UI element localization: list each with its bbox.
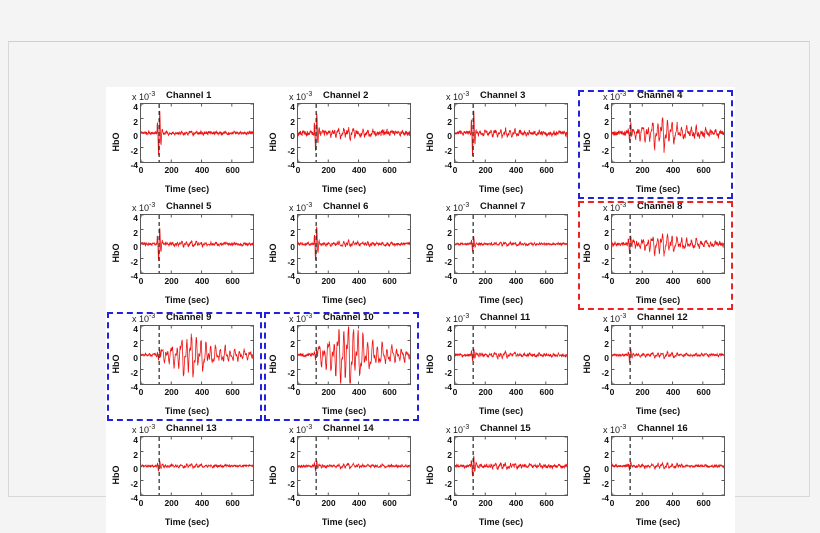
x-tick-labels-7: 0200400600 — [450, 276, 574, 288]
y-tick-11-0: 4 — [430, 325, 452, 333]
y-tick-16-1: 2 — [587, 451, 609, 459]
x-axis-label-9: Time (sec) — [128, 406, 246, 416]
y-tick-labels-1: 420-2-4 — [114, 99, 138, 167]
channel-panel-9[interactable]: x 10-3Channel 9HbOTime (sec)420-2-402004… — [106, 311, 263, 422]
y-tick-10-1: 2 — [273, 340, 295, 348]
x-tick-labels-9: 0200400600 — [136, 387, 260, 399]
y-tick-1-1: 2 — [116, 118, 138, 126]
y-tick-labels-2: 420-2-4 — [271, 99, 295, 167]
channel-panel-4[interactable]: x 10-3Channel 4HbOTime (sec)420-2-402004… — [577, 89, 734, 200]
x-tick-8-2: 400 — [660, 276, 686, 286]
y-axis-multiplier-exponent: -3 — [620, 202, 626, 209]
plot-axes-4[interactable] — [611, 103, 725, 163]
y-tick-11-3: -2 — [430, 369, 452, 377]
x-axis-label-10: Time (sec) — [285, 406, 403, 416]
channel-panel-8[interactable]: x 10-3Channel 8HbOTime (sec)420-2-402004… — [577, 200, 734, 311]
x-tick-2-2: 400 — [346, 165, 372, 175]
x-tick-6-2: 400 — [346, 276, 372, 286]
y-tick-labels-5: 420-2-4 — [114, 210, 138, 278]
x-tick-labels-13: 0200400600 — [136, 498, 260, 510]
x-tick-10-2: 400 — [346, 387, 372, 397]
x-tick-6-0: 0 — [285, 276, 311, 286]
channel-panel-3[interactable]: x 10-3Channel 3HbOTime (sec)420-2-402004… — [420, 89, 577, 200]
y-axis-multiplier-exponent: -3 — [149, 202, 155, 209]
x-tick-2-1: 200 — [316, 165, 342, 175]
y-tick-13-1: 2 — [116, 451, 138, 459]
y-tick-2-3: -2 — [273, 147, 295, 155]
plot-axes-5[interactable] — [140, 214, 254, 274]
x-tick-13-2: 400 — [189, 498, 215, 508]
x-tick-labels-1: 0200400600 — [136, 165, 260, 177]
y-tick-9-0: 4 — [116, 325, 138, 333]
y-axis-multiplier-exponent: -3 — [306, 424, 312, 431]
y-tick-8-3: -2 — [587, 258, 609, 266]
panel-title-7: Channel 7 — [480, 201, 525, 212]
y-tick-7-3: -2 — [430, 258, 452, 266]
x-tick-1-2: 400 — [189, 165, 215, 175]
x-axis-label-3: Time (sec) — [442, 184, 560, 194]
y-tick-6-1: 2 — [273, 229, 295, 237]
panel-title-9: Channel 9 — [166, 312, 211, 323]
panel-title-3: Channel 3 — [480, 90, 525, 101]
x-tick-11-0: 0 — [442, 387, 468, 397]
y-tick-13-2: 0 — [116, 465, 138, 473]
x-tick-9-2: 400 — [189, 387, 215, 397]
x-axis-label-13: Time (sec) — [128, 517, 246, 527]
x-tick-12-1: 200 — [630, 387, 656, 397]
y-tick-7-2: 0 — [430, 243, 452, 251]
x-tick-10-0: 0 — [285, 387, 311, 397]
panel-title-12: Channel 12 — [637, 312, 688, 323]
panel-title-4: Channel 4 — [637, 90, 682, 101]
y-axis-multiplier-exponent: -3 — [463, 91, 469, 98]
panel-title-15: Channel 15 — [480, 423, 531, 434]
y-tick-15-1: 2 — [430, 451, 452, 459]
x-tick-5-0: 0 — [128, 276, 154, 286]
x-tick-12-2: 400 — [660, 387, 686, 397]
plot-axes-2[interactable] — [297, 103, 411, 163]
x-tick-3-1: 200 — [473, 165, 499, 175]
x-tick-13-1: 200 — [159, 498, 185, 508]
x-tick-15-2: 400 — [503, 498, 529, 508]
y-tick-2-1: 2 — [273, 118, 295, 126]
x-tick-14-0: 0 — [285, 498, 311, 508]
x-tick-labels-3: 0200400600 — [450, 165, 574, 177]
x-tick-10-1: 200 — [316, 387, 342, 397]
plot-axes-11[interactable] — [454, 325, 568, 385]
y-tick-labels-6: 420-2-4 — [271, 210, 295, 278]
x-tick-8-0: 0 — [599, 276, 625, 286]
x-axis-label-1: Time (sec) — [128, 184, 246, 194]
x-tick-5-1: 200 — [159, 276, 185, 286]
y-tick-12-3: -2 — [587, 369, 609, 377]
x-axis-label-8: Time (sec) — [599, 295, 717, 305]
y-tick-8-2: 0 — [587, 243, 609, 251]
x-tick-3-2: 400 — [503, 165, 529, 175]
y-tick-labels-3: 420-2-4 — [428, 99, 452, 167]
y-tick-3-2: 0 — [430, 132, 452, 140]
y-axis-multiplier-exponent: -3 — [463, 313, 469, 320]
y-tick-12-1: 2 — [587, 340, 609, 348]
panel-title-1: Channel 1 — [166, 90, 211, 101]
y-tick-9-3: -2 — [116, 369, 138, 377]
y-tick-14-3: -2 — [273, 480, 295, 488]
x-tick-11-1: 200 — [473, 387, 499, 397]
x-tick-8-1: 200 — [630, 276, 656, 286]
x-axis-label-15: Time (sec) — [442, 517, 560, 527]
y-tick-6-3: -2 — [273, 258, 295, 266]
plot-axes-16[interactable] — [611, 436, 725, 496]
channel-panel-16[interactable]: x 10-3Channel 16HbOTime (sec)420-2-40200… — [577, 422, 734, 533]
y-tick-labels-15: 420-2-4 — [428, 432, 452, 500]
channel-panel-15[interactable]: x 10-3Channel 15HbOTime (sec)420-2-40200… — [420, 422, 577, 533]
y-tick-10-2: 0 — [273, 354, 295, 362]
channel-panel-5[interactable]: x 10-3Channel 5HbOTime (sec)420-2-402004… — [106, 200, 263, 311]
x-axis-label-2: Time (sec) — [285, 184, 403, 194]
y-tick-1-0: 4 — [116, 103, 138, 111]
plot-axes-6[interactable] — [297, 214, 411, 274]
figure-outer-frame: x 10-3Channel 1HbOTime (sec)420-2-402004… — [8, 41, 810, 497]
y-tick-5-2: 0 — [116, 243, 138, 251]
plot-axes-12[interactable] — [611, 325, 725, 385]
y-axis-multiplier-exponent: -3 — [620, 91, 626, 98]
y-tick-6-0: 4 — [273, 214, 295, 222]
x-tick-labels-12: 0200400600 — [607, 387, 731, 399]
y-axis-multiplier-exponent: -3 — [306, 313, 312, 320]
y-axis-multiplier-exponent: -3 — [306, 202, 312, 209]
y-tick-14-0: 4 — [273, 436, 295, 444]
x-tick-1-1: 200 — [159, 165, 185, 175]
x-axis-label-16: Time (sec) — [599, 517, 717, 527]
panel-title-6: Channel 6 — [323, 201, 368, 212]
y-axis-multiplier-exponent: -3 — [306, 91, 312, 98]
x-tick-6-1: 200 — [316, 276, 342, 286]
x-tick-4-2: 400 — [660, 165, 686, 175]
panel-title-5: Channel 5 — [166, 201, 211, 212]
y-tick-13-3: -2 — [116, 480, 138, 488]
figure-canvas: x 10-3Channel 1HbOTime (sec)420-2-402004… — [106, 87, 735, 533]
x-tick-9-3: 600 — [220, 387, 246, 397]
y-tick-16-2: 0 — [587, 465, 609, 473]
x-tick-13-3: 600 — [220, 498, 246, 508]
plot-axes-7[interactable] — [454, 214, 568, 274]
y-tick-3-3: -2 — [430, 147, 452, 155]
y-tick-2-2: 0 — [273, 132, 295, 140]
channel-panel-14[interactable]: x 10-3Channel 14HbOTime (sec)420-2-40200… — [263, 422, 420, 533]
y-tick-5-3: -2 — [116, 258, 138, 266]
x-tick-16-3: 600 — [691, 498, 717, 508]
y-axis-multiplier-exponent: -3 — [149, 424, 155, 431]
x-tick-7-0: 0 — [442, 276, 468, 286]
panel-title-13: Channel 13 — [166, 423, 217, 434]
x-tick-4-1: 200 — [630, 165, 656, 175]
y-tick-12-0: 4 — [587, 325, 609, 333]
x-tick-15-3: 600 — [534, 498, 560, 508]
y-axis-multiplier-exponent: -3 — [149, 91, 155, 98]
y-tick-9-1: 2 — [116, 340, 138, 348]
x-tick-9-1: 200 — [159, 387, 185, 397]
x-tick-labels-14: 0200400600 — [293, 498, 417, 510]
y-tick-15-3: -2 — [430, 480, 452, 488]
y-tick-5-0: 4 — [116, 214, 138, 222]
channel-panel-2[interactable]: x 10-3Channel 2HbOTime (sec)420-2-402004… — [263, 89, 420, 200]
panel-title-2: Channel 2 — [323, 90, 368, 101]
x-tick-7-2: 400 — [503, 276, 529, 286]
x-tick-2-3: 600 — [377, 165, 403, 175]
y-tick-labels-9: 420-2-4 — [114, 321, 138, 389]
panel-title-16: Channel 16 — [637, 423, 688, 434]
channel-panel-13[interactable]: x 10-3Channel 13HbOTime (sec)420-2-40200… — [106, 422, 263, 533]
x-tick-16-2: 400 — [660, 498, 686, 508]
y-axis-multiplier-exponent: -3 — [463, 202, 469, 209]
x-tick-labels-16: 0200400600 — [607, 498, 731, 510]
x-tick-7-3: 600 — [534, 276, 560, 286]
x-tick-11-2: 400 — [503, 387, 529, 397]
y-tick-7-0: 4 — [430, 214, 452, 222]
x-tick-1-3: 600 — [220, 165, 246, 175]
y-tick-10-3: -2 — [273, 369, 295, 377]
panel-title-14: Channel 14 — [323, 423, 374, 434]
x-tick-2-0: 0 — [285, 165, 311, 175]
y-tick-labels-16: 420-2-4 — [585, 432, 609, 500]
y-tick-4-3: -2 — [587, 147, 609, 155]
x-tick-5-3: 600 — [220, 276, 246, 286]
plot-axes-3[interactable] — [454, 103, 568, 163]
plot-axes-10[interactable] — [297, 325, 411, 385]
plot-axes-8[interactable] — [611, 214, 725, 274]
x-tick-12-3: 600 — [691, 387, 717, 397]
y-tick-4-2: 0 — [587, 132, 609, 140]
channel-panel-6[interactable]: x 10-3Channel 6HbOTime (sec)420-2-402004… — [263, 200, 420, 311]
y-tick-2-0: 4 — [273, 103, 295, 111]
y-axis-multiplier-exponent: -3 — [463, 424, 469, 431]
plot-axes-9[interactable] — [140, 325, 254, 385]
x-tick-4-3: 600 — [691, 165, 717, 175]
y-tick-8-0: 4 — [587, 214, 609, 222]
y-tick-labels-7: 420-2-4 — [428, 210, 452, 278]
x-tick-14-1: 200 — [316, 498, 342, 508]
y-tick-3-1: 2 — [430, 118, 452, 126]
y-tick-13-0: 4 — [116, 436, 138, 444]
x-tick-8-3: 600 — [691, 276, 717, 286]
x-tick-labels-6: 0200400600 — [293, 276, 417, 288]
y-tick-11-1: 2 — [430, 340, 452, 348]
y-tick-labels-8: 420-2-4 — [585, 210, 609, 278]
y-tick-16-3: -2 — [587, 480, 609, 488]
channel-panel-10[interactable]: x 10-3Channel 10HbOTime (sec)420-2-40200… — [263, 311, 420, 422]
channel-panel-12[interactable]: x 10-3Channel 12HbOTime (sec)420-2-40200… — [577, 311, 734, 422]
y-tick-15-0: 4 — [430, 436, 452, 444]
x-axis-label-11: Time (sec) — [442, 406, 560, 416]
x-tick-1-0: 0 — [128, 165, 154, 175]
y-tick-labels-11: 420-2-4 — [428, 321, 452, 389]
x-tick-16-0: 0 — [599, 498, 625, 508]
plot-axes-14[interactable] — [297, 436, 411, 496]
y-tick-5-1: 2 — [116, 229, 138, 237]
y-tick-4-0: 4 — [587, 103, 609, 111]
y-tick-14-1: 2 — [273, 451, 295, 459]
x-tick-labels-5: 0200400600 — [136, 276, 260, 288]
x-tick-12-0: 0 — [599, 387, 625, 397]
y-tick-labels-14: 420-2-4 — [271, 432, 295, 500]
x-tick-14-3: 600 — [377, 498, 403, 508]
x-axis-label-5: Time (sec) — [128, 295, 246, 305]
channel-panel-11[interactable]: x 10-3Channel 11HbOTime (sec)420-2-40200… — [420, 311, 577, 422]
panel-title-8: Channel 8 — [637, 201, 682, 212]
y-tick-8-1: 2 — [587, 229, 609, 237]
x-tick-10-3: 600 — [377, 387, 403, 397]
y-tick-4-1: 2 — [587, 118, 609, 126]
y-tick-3-0: 4 — [430, 103, 452, 111]
x-axis-label-6: Time (sec) — [285, 295, 403, 305]
x-axis-label-7: Time (sec) — [442, 295, 560, 305]
x-tick-labels-15: 0200400600 — [450, 498, 574, 510]
y-axis-multiplier-exponent: -3 — [149, 313, 155, 320]
x-tick-5-2: 400 — [189, 276, 215, 286]
x-tick-labels-8: 0200400600 — [607, 276, 731, 288]
y-tick-15-2: 0 — [430, 465, 452, 473]
x-tick-9-0: 0 — [128, 387, 154, 397]
y-tick-1-3: -2 — [116, 147, 138, 155]
x-tick-11-3: 600 — [534, 387, 560, 397]
y-tick-12-2: 0 — [587, 354, 609, 362]
plot-axes-13[interactable] — [140, 436, 254, 496]
y-tick-14-2: 0 — [273, 465, 295, 473]
y-tick-labels-4: 420-2-4 — [585, 99, 609, 167]
channel-panel-1[interactable]: x 10-3Channel 1HbOTime (sec)420-2-402004… — [106, 89, 263, 200]
y-tick-7-1: 2 — [430, 229, 452, 237]
x-tick-6-3: 600 — [377, 276, 403, 286]
y-tick-10-0: 4 — [273, 325, 295, 333]
plot-axes-1[interactable] — [140, 103, 254, 163]
y-tick-16-0: 4 — [587, 436, 609, 444]
x-tick-15-0: 0 — [442, 498, 468, 508]
y-axis-multiplier-exponent: -3 — [620, 424, 626, 431]
x-axis-label-4: Time (sec) — [599, 184, 717, 194]
x-tick-3-0: 0 — [442, 165, 468, 175]
x-tick-3-3: 600 — [534, 165, 560, 175]
x-tick-16-1: 200 — [630, 498, 656, 508]
channel-panel-7[interactable]: x 10-3Channel 7HbOTime (sec)420-2-402004… — [420, 200, 577, 311]
panel-title-10: Channel 10 — [323, 312, 374, 323]
y-tick-9-2: 0 — [116, 354, 138, 362]
plot-axes-15[interactable] — [454, 436, 568, 496]
y-axis-multiplier-exponent: -3 — [620, 313, 626, 320]
y-tick-labels-10: 420-2-4 — [271, 321, 295, 389]
x-axis-label-12: Time (sec) — [599, 406, 717, 416]
x-tick-4-0: 0 — [599, 165, 625, 175]
x-tick-15-1: 200 — [473, 498, 499, 508]
x-axis-label-14: Time (sec) — [285, 517, 403, 527]
x-tick-labels-4: 0200400600 — [607, 165, 731, 177]
x-tick-13-0: 0 — [128, 498, 154, 508]
panel-title-11: Channel 11 — [480, 312, 530, 323]
y-tick-6-2: 0 — [273, 243, 295, 251]
x-tick-labels-10: 0200400600 — [293, 387, 417, 399]
x-tick-7-1: 200 — [473, 276, 499, 286]
x-tick-14-2: 400 — [346, 498, 372, 508]
x-tick-labels-11: 0200400600 — [450, 387, 574, 399]
y-tick-11-2: 0 — [430, 354, 452, 362]
y-tick-labels-12: 420-2-4 — [585, 321, 609, 389]
y-tick-1-2: 0 — [116, 132, 138, 140]
y-tick-labels-13: 420-2-4 — [114, 432, 138, 500]
x-tick-labels-2: 0200400600 — [293, 165, 417, 177]
